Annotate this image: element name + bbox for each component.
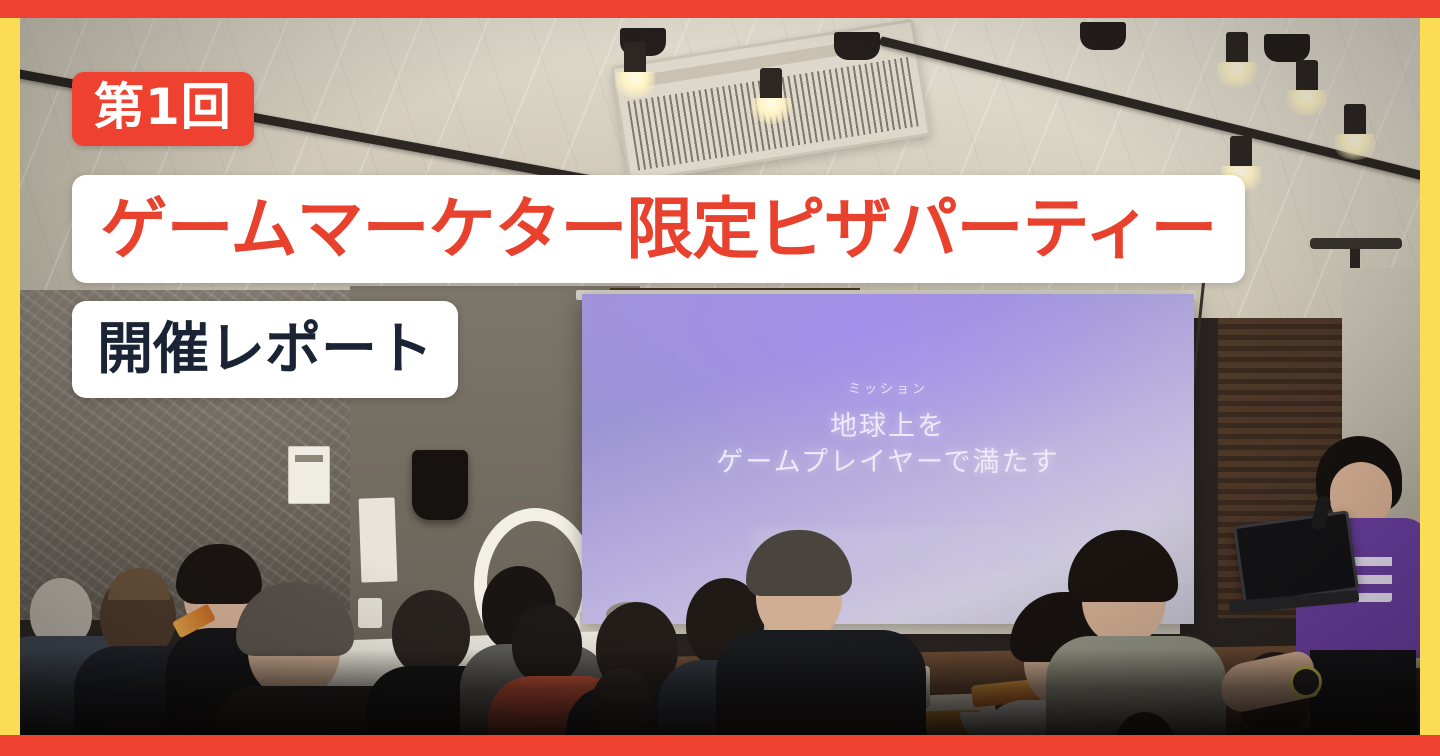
track-spotlight xyxy=(760,68,782,102)
slide-text: ミッション 地球上を ゲームプレイヤーで満たす xyxy=(582,378,1194,482)
right-yellow-band xyxy=(1420,18,1440,735)
event-title-box: ゲームマーケター限定ピザパーティー xyxy=(72,175,1245,283)
slide-label: ミッション xyxy=(582,378,1194,397)
wall-outlet xyxy=(358,598,382,628)
report-banner: ミッション 地球上を ゲームプレイヤーで満たす xyxy=(0,0,1440,756)
laptop xyxy=(1233,510,1359,605)
track-spotlight xyxy=(1296,60,1318,94)
wall-notice xyxy=(288,446,330,504)
bottom-red-bar xyxy=(0,735,1440,756)
pendant-light xyxy=(834,32,880,60)
track-spotlight xyxy=(624,42,646,76)
top-red-bar xyxy=(0,0,1440,18)
report-subtitle-box: 開催レポート xyxy=(72,301,458,398)
report-subtitle: 開催レポート xyxy=(97,322,433,378)
pendant-light xyxy=(1264,34,1310,62)
wall-speaker xyxy=(412,450,468,520)
wall-notice xyxy=(359,497,398,582)
slide-line-1: 地球上を xyxy=(582,409,1194,445)
track-spotlight xyxy=(1230,136,1252,170)
foreground-shadow xyxy=(20,649,1420,735)
track-spotlight xyxy=(1226,32,1248,66)
edition-badge-label: 第1回 xyxy=(94,82,232,132)
left-yellow-band xyxy=(0,18,20,735)
edition-badge: 第1回 xyxy=(72,72,254,146)
event-title: ゲームマーケター限定ピザパーティー xyxy=(101,196,1217,263)
slide-line-2: ゲームプレイヤーで満たす xyxy=(582,445,1194,481)
pendant-light xyxy=(1080,22,1126,50)
track-spotlight xyxy=(1344,104,1366,138)
